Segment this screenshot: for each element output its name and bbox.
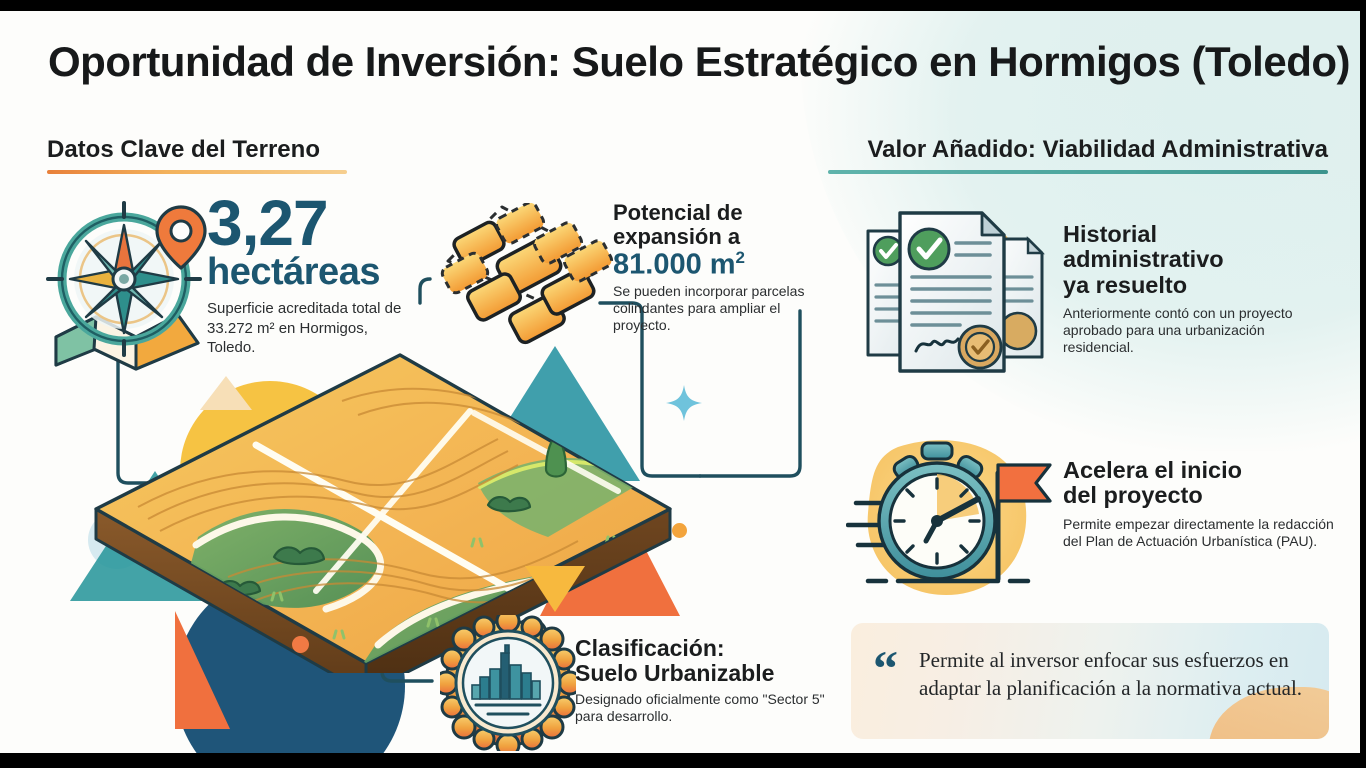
decorative-yellow-triangle [525, 566, 585, 612]
section-header-left: Datos Clave del Terreno [47, 136, 347, 174]
section-label-datos-clave: Datos Clave del Terreno [47, 136, 347, 164]
speed-body: Permite empezar directamente la redacció… [1063, 516, 1338, 550]
history-heading: Historial administrativo ya resuelto [1063, 222, 1333, 298]
decorative-orange-dot [292, 636, 309, 653]
history-heading-line2: administrativo [1063, 247, 1333, 272]
expansion-value-sup: 2 [736, 248, 745, 267]
expansion-body: Se pueden incorporar parcelas colindante… [613, 283, 808, 334]
fact-hectares: 3,27 hectáreas Superficie acreditada tot… [207, 197, 407, 357]
expansion-value-number: 81.000 m [613, 248, 736, 280]
compass-map-icon [36, 191, 220, 377]
fact-classification: Clasificación: Suelo Urbanizable Designa… [575, 636, 825, 725]
infographic-stage: Oportunidad de Inversión: Suelo Estratég… [0, 0, 1366, 768]
quote-text: Permite al inversor enfocar sus esfuerzo… [919, 647, 1309, 702]
infographic-canvas: Oportunidad de Inversión: Suelo Estratég… [0, 11, 1360, 753]
expansion-heading-line1: Potencial de [613, 201, 808, 225]
isometric-land-plot-icon [78, 341, 688, 673]
hectares-body: Superficie acreditada total de 33.272 m²… [207, 299, 407, 357]
decorative-sparkle-icon [664, 383, 704, 423]
speed-heading: Acelera el inicio del proyecto [1063, 458, 1338, 509]
history-heading-line3: ya resuelto [1063, 273, 1333, 298]
speed-heading-line1: Acelera el inicio [1063, 458, 1338, 483]
classification-heading-line1: Clasificación: [575, 636, 825, 661]
letterbox-top [0, 0, 1366, 11]
fact-expansion: Potencial de expansión a 81.000 m2 Se pu… [613, 201, 808, 334]
classification-body: Designado oficialmente como "Sector 5" p… [575, 691, 825, 725]
urban-badge-icon [440, 615, 576, 751]
fact-history: Historial administrativo ya resuelto Ant… [1063, 222, 1333, 356]
hectares-value: 3,27 [207, 197, 407, 249]
history-heading-line1: Historial [1063, 222, 1333, 247]
letterbox-right [1360, 0, 1366, 768]
section-label-valor-anadido: Valor Añadido: Viabilidad Administrativa [828, 136, 1328, 164]
letterbox-bottom [0, 753, 1366, 768]
quote-mark-icon: “ [873, 643, 898, 693]
decorative-orange-dot-2 [672, 523, 687, 538]
parcels-grid-icon [440, 203, 616, 361]
section-rule-left [47, 170, 347, 174]
classification-heading: Clasificación: Suelo Urbanizable [575, 636, 825, 686]
expansion-value: 81.000 m2 [613, 249, 808, 280]
stopwatch-flag-icon [846, 429, 1056, 613]
approved-documents-icon [846, 199, 1056, 381]
speed-heading-line2: del proyecto [1063, 483, 1338, 508]
hectares-unit: hectáreas [207, 253, 407, 291]
history-body: Anteriormente contó con un proyecto apro… [1063, 305, 1333, 356]
classification-heading-line2: Suelo Urbanizable [575, 661, 825, 686]
fact-speed: Acelera el inicio del proyecto Permite e… [1063, 458, 1338, 550]
expansion-heading: Potencial de expansión a [613, 201, 808, 249]
section-rule-right [828, 170, 1328, 174]
section-header-right: Valor Añadido: Viabilidad Administrativa [828, 136, 1328, 174]
page-title: Oportunidad de Inversión: Suelo Estratég… [48, 38, 1328, 86]
quote-callout: “ Permite al inversor enfocar sus esfuer… [851, 623, 1329, 739]
expansion-heading-line2: expansión a [613, 225, 808, 249]
